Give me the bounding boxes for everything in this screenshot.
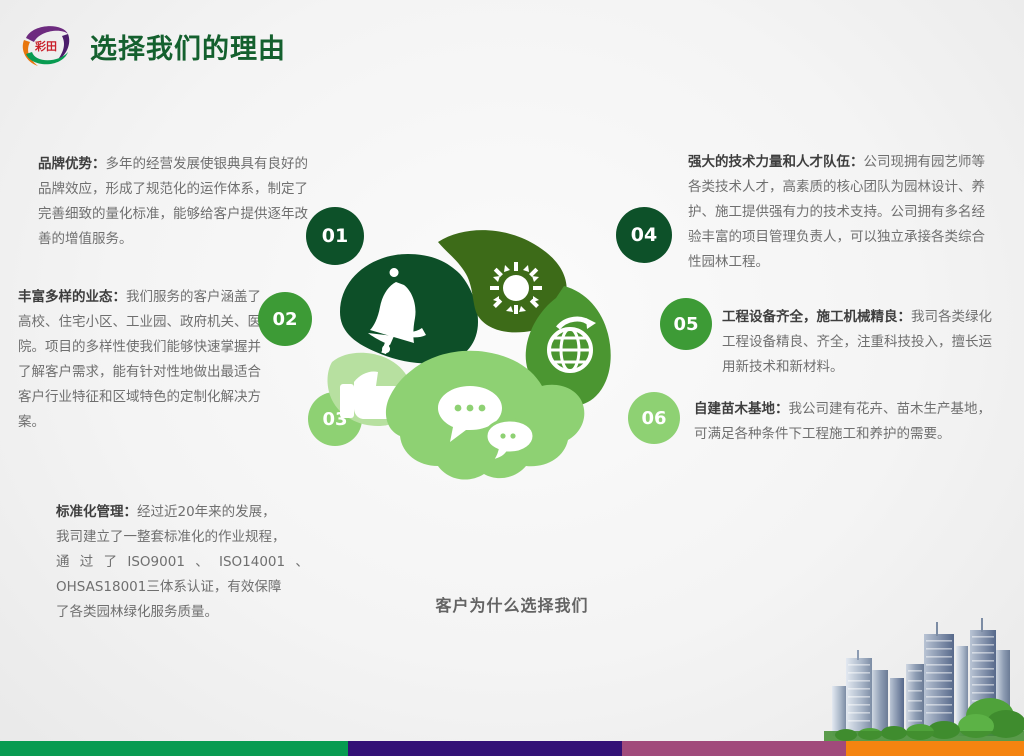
reason-heading-01: 品牌优势：	[38, 156, 106, 172]
bar-segment-purple	[348, 741, 622, 756]
reason-block-05: 工程设备齐全，施工机械精良：我司各类绿化工程设备精良、齐全，注重科技投入，擅长运…	[722, 305, 994, 380]
bottom-caption: 客户为什么选择我们	[0, 592, 1024, 616]
brain-infographic	[320, 210, 680, 500]
reason-heading-05: 工程设备齐全，施工机械精良：	[722, 309, 911, 325]
slide-canvas: 彩田 选择我们的理由 品牌优势：多年的经营发展使银典具有良好的品牌效应，形成了规…	[0, 0, 1024, 756]
badge-02[interactable]: 02	[258, 292, 312, 346]
skyline-illustration	[824, 616, 1024, 741]
reason-body-03-line3: 通 过 了 ISO9001 、 ISO14001 、	[56, 554, 309, 570]
reason-block-06: 自建苗木基地：我公司建有花卉、苗木生产基地，可满足各种条件下工程施工和养护的需要…	[694, 397, 994, 447]
reason-body-02: 我们服务的客户涵盖了高校、住宅小区、工业园、政府机关、医院。项目的多样性使我们能…	[18, 289, 261, 430]
reason-block-01: 品牌优势：多年的经营发展使银典具有良好的品牌效应，形成了规范化的运作体系，制定了…	[38, 152, 314, 252]
city-skyline-image	[824, 616, 1024, 741]
page-title: 选择我们的理由	[90, 27, 286, 66]
brain-shape	[320, 210, 680, 500]
reason-body-03-line1: 经过近20年来的发展，	[137, 504, 276, 520]
slide-header: 彩田 选择我们的理由	[18, 18, 286, 74]
reason-block-04: 强大的技术力量和人才队伍：公司现拥有园艺师等各类技术人才，高素质的核心团队为园林…	[688, 150, 988, 275]
reason-heading-03: 标准化管理：	[56, 504, 137, 520]
reason-body-03-line2: 我司建立了一整套标准化的作业规程，	[56, 529, 286, 545]
caitian-logo: 彩田	[18, 18, 74, 74]
reason-heading-04: 强大的技术力量和人才队伍：	[688, 154, 864, 170]
bar-segment-mauve	[622, 741, 846, 756]
reason-body-04: 公司现拥有园艺师等各类技术人才，高素质的核心团队为园林设计、养护、施工提供强有力…	[688, 154, 985, 270]
logo-wordmark: 彩田	[18, 18, 74, 74]
reason-block-02: 丰富多样的业态：我们服务的客户涵盖了高校、住宅小区、工业园、政府机关、医院。项目…	[18, 285, 274, 435]
reason-heading-02: 丰富多样的业态：	[18, 289, 126, 305]
bar-segment-orange	[846, 741, 1024, 756]
reason-heading-06: 自建苗木基地：	[694, 401, 789, 417]
footer-colorbar	[0, 741, 1024, 756]
bell-lobe[interactable]	[340, 254, 478, 364]
bar-segment-green	[0, 741, 348, 756]
